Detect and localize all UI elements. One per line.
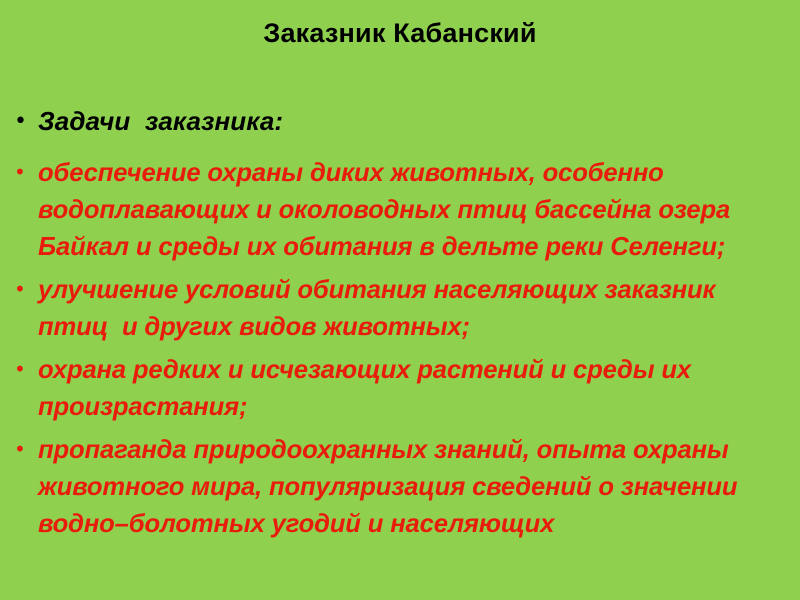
list-item-label: пропаганда природоохранных знаний, опыта…	[38, 431, 783, 542]
list-item: • улучшение условий обитания населяющих …	[14, 271, 794, 345]
list-item: • обеспечение охраны диких животных, осо…	[14, 154, 794, 265]
list-item: • пропаганда природоохранных знаний, опы…	[14, 431, 794, 542]
list-item: • охрана редких и исчезающих растений и …	[14, 351, 794, 425]
list-item-label: улучшение условий обитания населяющих за…	[38, 271, 783, 345]
bullet-dot-icon: •	[14, 431, 38, 467]
slide-canvas: Заказник Кабанский • Задачи заказника: •…	[0, 0, 800, 600]
list-item-heading: • Задачи заказника:	[14, 104, 794, 139]
content-body: • Задачи заказника: • обеспечение охраны…	[14, 104, 794, 548]
list-item-label: охрана редких и исчезающих растений и ср…	[38, 351, 783, 425]
page-title: Заказник Кабанский	[0, 18, 800, 49]
bullet-dot-icon: •	[14, 271, 38, 307]
bullet-dot-icon: •	[14, 351, 38, 387]
bullet-dot-icon: •	[14, 154, 38, 190]
list-item-label: обеспечение охраны диких животных, особе…	[38, 154, 783, 265]
bullet-dot-icon: •	[14, 104, 38, 139]
heading-label: Задачи заказника:	[38, 104, 794, 139]
